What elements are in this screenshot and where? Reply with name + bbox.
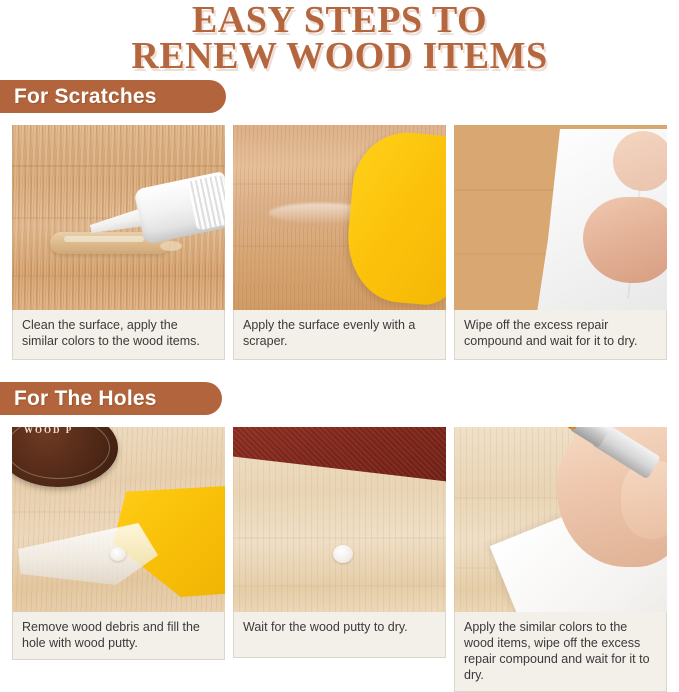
step-card: Apply the similar colors to the wood ite… xyxy=(454,427,667,692)
step-card: Wait for the wood putty to dry. xyxy=(233,427,446,692)
step-photo-wipe-excess xyxy=(454,125,667,310)
step-caption: Wipe off the excess repair compound and … xyxy=(454,310,667,360)
step-card: Wipe off the excess repair compound and … xyxy=(454,125,667,360)
steps-row-scratches: Clean the surface, apply the similar col… xyxy=(12,125,667,360)
section-banner-label: For Scratches xyxy=(0,85,157,109)
step-card: Apply the surface evenly with a scraper. xyxy=(233,125,446,360)
jar-label: WOOD P xyxy=(24,427,73,435)
step-card: Clean the surface, apply the similar col… xyxy=(12,125,225,360)
step-photo-apply-compound xyxy=(12,125,225,310)
title-line-1: EASY STEPS TO xyxy=(0,2,679,38)
wood-grain-line xyxy=(12,275,225,277)
tube-cap-ridges xyxy=(187,174,225,230)
section-banner-for-the-holes: For The Holes xyxy=(0,382,222,415)
step-photo-scrape-surface xyxy=(233,125,446,310)
step-caption: Apply the similar colors to the wood ite… xyxy=(454,612,667,692)
step-caption: Apply the surface evenly with a scraper. xyxy=(233,310,446,360)
title-line-2: RENEW WOOD ITEMS xyxy=(0,38,679,74)
repair-compound-spot xyxy=(160,241,182,251)
page-title: EASY STEPS TO RENEW WOOD ITEMS xyxy=(0,2,679,74)
step-photo-wait-to-dry xyxy=(233,427,446,612)
step-caption: Wait for the wood putty to dry. xyxy=(233,612,446,658)
step-caption: Clean the surface, apply the similar col… xyxy=(12,310,225,360)
wood-grain-line xyxy=(233,537,446,539)
filled-hole-putty xyxy=(110,547,126,561)
wood-grain-line xyxy=(233,585,446,587)
step-caption: Remove wood debris and fill the hole wit… xyxy=(12,612,225,660)
step-card: WOOD P Remove wood debris and fill the h… xyxy=(12,427,225,692)
section-banner-label: For The Holes xyxy=(0,387,157,411)
section-banner-for-scratches: For Scratches xyxy=(0,80,226,113)
infographic-page: EASY STEPS TO RENEW WOOD ITEMS For Scrat… xyxy=(0,0,679,666)
wood-grain-line xyxy=(12,165,225,167)
step-photo-fill-hole: WOOD P xyxy=(12,427,225,612)
steps-row-holes: WOOD P Remove wood debris and fill the h… xyxy=(12,427,667,692)
thumb xyxy=(613,131,667,191)
filled-hole-putty xyxy=(333,545,353,563)
step-photo-apply-color xyxy=(454,427,667,612)
